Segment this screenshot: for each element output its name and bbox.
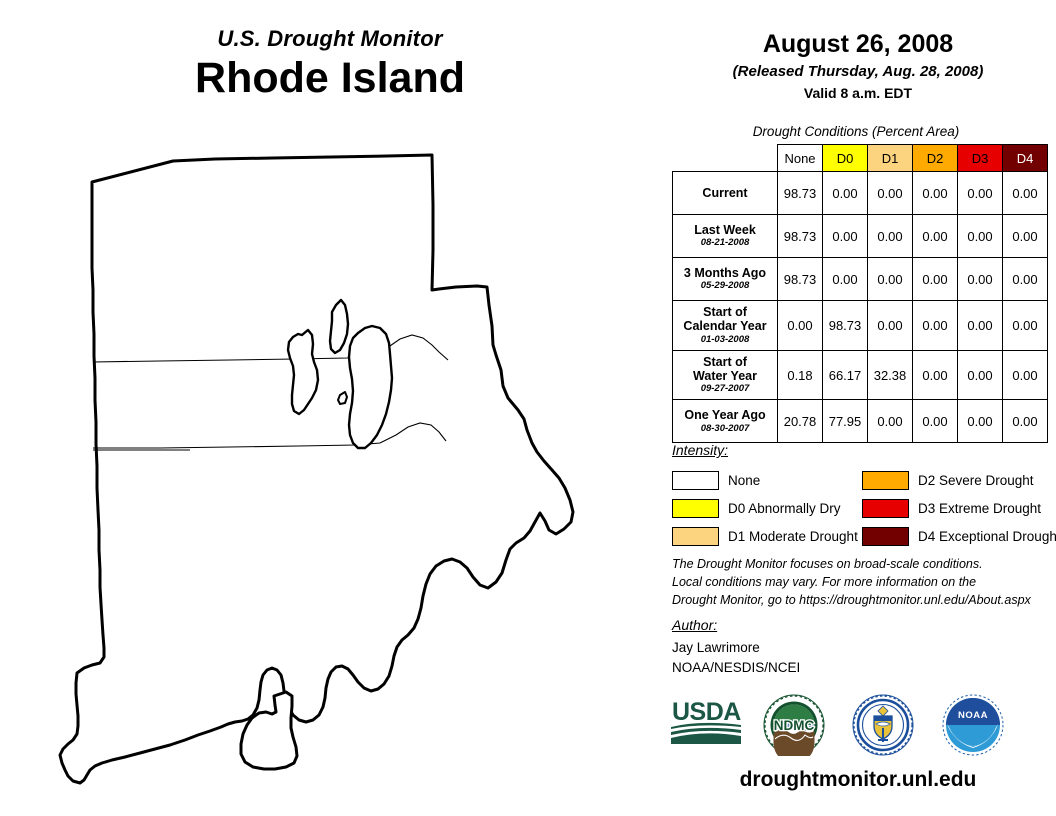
row-label-text: Last Week xyxy=(677,223,773,237)
legend-item: D0 Abnormally Dry xyxy=(672,496,858,520)
cell-none: 0.00 xyxy=(778,301,823,351)
date-block: August 26, 2008 (Released Thursday, Aug.… xyxy=(660,30,1056,101)
cell-none: 98.73 xyxy=(778,258,823,301)
table-row: 3 Months Ago05-29-200898.730.000.000.000… xyxy=(673,258,1048,301)
row-label-text: 3 Months Ago xyxy=(677,266,773,280)
row-label: One Year Ago08-30-2007 xyxy=(673,400,778,443)
logo-row: USDA NDMC NOAA xyxy=(660,694,1056,758)
column-header-d0: D0 xyxy=(823,145,868,172)
cell-d2: 0.00 xyxy=(913,350,958,400)
ndmc-logo: NDMC xyxy=(762,694,826,756)
usda-logo: USDA xyxy=(670,694,742,746)
cell-d1: 0.00 xyxy=(868,301,913,351)
cell-d0: 66.17 xyxy=(823,350,868,400)
cell-d4: 0.00 xyxy=(1003,301,1048,351)
cell-d1: 0.00 xyxy=(868,400,913,443)
svg-text:NOAA: NOAA xyxy=(958,710,988,721)
legend-label: D1 Moderate Drought xyxy=(728,529,858,544)
legend-label: None xyxy=(728,473,760,488)
website-url: droughtmonitor.unl.edu xyxy=(660,768,1056,792)
map-state-outline xyxy=(60,155,573,783)
svg-text:USDA: USDA xyxy=(672,698,741,726)
cell-d1: 32.38 xyxy=(868,350,913,400)
column-header-d4: D4 xyxy=(1003,145,1048,172)
cell-d3: 0.00 xyxy=(958,400,1003,443)
cell-d3: 0.00 xyxy=(958,350,1003,400)
legend-swatch xyxy=(672,527,719,546)
legend-swatch xyxy=(862,471,909,490)
cell-d4: 0.00 xyxy=(1003,258,1048,301)
legend-item: D1 Moderate Drought xyxy=(672,524,858,548)
table-caption: Drought Conditions (Percent Area) xyxy=(672,124,1040,139)
legend-swatch xyxy=(672,499,719,518)
legend-label: D4 Exceptional Drought xyxy=(918,529,1056,544)
table-row: Last Week08-21-200898.730.000.000.000.00… xyxy=(673,215,1048,258)
cell-d1: 0.00 xyxy=(868,172,913,215)
legend-swatch xyxy=(672,471,719,490)
noaa-logo: NOAA xyxy=(942,694,1004,756)
row-label-date: 01-03-2008 xyxy=(677,335,773,346)
column-header-d1: D1 xyxy=(868,145,913,172)
notes-line-3: Drought Monitor, go to https://droughtmo… xyxy=(672,592,1031,610)
row-label-text: Water Year xyxy=(677,369,773,383)
valid-date: August 26, 2008 xyxy=(660,30,1056,59)
row-label-date: 08-30-2007 xyxy=(677,424,773,435)
column-header-d3: D3 xyxy=(958,145,1003,172)
cell-none: 98.73 xyxy=(778,172,823,215)
author-affiliation: NOAA/NESDIS/NCEI xyxy=(672,658,800,678)
legend-swatch xyxy=(862,499,909,518)
legend-item: D3 Extreme Drought xyxy=(862,496,1056,520)
row-label-date: 09-27-2007 xyxy=(677,384,773,395)
table-row: Start ofCalendar Year01-03-20080.0098.73… xyxy=(673,301,1048,351)
table-row: Start ofWater Year09-27-20070.1866.1732.… xyxy=(673,350,1048,400)
row-label: Start ofCalendar Year01-03-2008 xyxy=(673,301,778,351)
intensity-legend-title: Intensity: xyxy=(672,442,728,458)
legend-item: D2 Severe Drought xyxy=(862,468,1056,492)
row-label: 3 Months Ago05-29-2008 xyxy=(673,258,778,301)
header-spacer xyxy=(673,145,778,172)
cell-d0: 77.95 xyxy=(823,400,868,443)
program-title: U.S. Drought Monitor xyxy=(0,26,660,52)
row-label-text: Start of xyxy=(677,355,773,369)
cell-d2: 0.00 xyxy=(913,215,958,258)
row-label-text: Current xyxy=(677,186,773,200)
cell-d2: 0.00 xyxy=(913,172,958,215)
table-row: Current98.730.000.000.000.000.00 xyxy=(673,172,1048,215)
column-header-none: None xyxy=(778,145,823,172)
release-date: (Released Thursday, Aug. 28, 2008) xyxy=(660,63,1056,80)
cell-d3: 0.00 xyxy=(958,258,1003,301)
cell-d0: 98.73 xyxy=(823,301,868,351)
row-label-date: 08-21-2008 xyxy=(677,238,773,249)
author-title: Author: xyxy=(672,617,717,633)
legend-label: D3 Extreme Drought xyxy=(918,501,1041,516)
cell-d4: 0.00 xyxy=(1003,215,1048,258)
row-label-date: 05-29-2008 xyxy=(677,281,773,292)
state-title: Rhode Island xyxy=(0,56,660,101)
column-header-d2: D2 xyxy=(913,145,958,172)
cell-d4: 0.00 xyxy=(1003,350,1048,400)
drought-conditions-table: None D0 D1 D2 D3 D4 Current98.730.000.00… xyxy=(672,144,1048,443)
cell-none: 98.73 xyxy=(778,215,823,258)
cell-d3: 0.00 xyxy=(958,172,1003,215)
rhode-island-map xyxy=(40,130,640,810)
row-label: Last Week08-21-2008 xyxy=(673,215,778,258)
notes-line-1: The Drought Monitor focuses on broad-sca… xyxy=(672,556,1031,574)
row-label-text: Calendar Year xyxy=(677,319,773,333)
legend-item: None xyxy=(672,468,858,492)
notes-line-2: Local conditions may vary. For more info… xyxy=(672,574,1031,592)
disclaimer-notes: The Drought Monitor focuses on broad-sca… xyxy=(672,556,1031,609)
table-row: One Year Ago08-30-200720.7877.950.000.00… xyxy=(673,400,1048,443)
author-name: Jay Lawrimore xyxy=(672,638,800,658)
cell-d3: 0.00 xyxy=(958,215,1003,258)
cell-d2: 0.00 xyxy=(913,301,958,351)
cell-d0: 0.00 xyxy=(823,258,868,301)
valid-time: Valid 8 a.m. EDT xyxy=(660,85,1056,101)
intensity-legend-left: NoneD0 Abnormally DryD1 Moderate Drought xyxy=(672,468,858,552)
svg-text:NDMC: NDMC xyxy=(774,718,815,733)
commerce-seal-logo xyxy=(852,694,914,756)
cell-d0: 0.00 xyxy=(823,172,868,215)
cell-d2: 0.00 xyxy=(913,258,958,301)
table-header-row: None D0 D1 D2 D3 D4 xyxy=(673,145,1048,172)
cell-d1: 0.00 xyxy=(868,258,913,301)
intensity-legend-right: D2 Severe DroughtD3 Extreme DroughtD4 Ex… xyxy=(862,468,1056,552)
cell-none: 20.78 xyxy=(778,400,823,443)
row-label-text: One Year Ago xyxy=(677,408,773,422)
legend-label: D0 Abnormally Dry xyxy=(728,501,841,516)
cell-d0: 0.00 xyxy=(823,215,868,258)
rhode-island-map-svg xyxy=(40,130,640,810)
cell-d2: 0.00 xyxy=(913,400,958,443)
cell-d1: 0.00 xyxy=(868,215,913,258)
row-label-text: Start of xyxy=(677,305,773,319)
row-label: Start ofWater Year09-27-2007 xyxy=(673,350,778,400)
cell-d3: 0.00 xyxy=(958,301,1003,351)
cell-none: 0.18 xyxy=(778,350,823,400)
author-block: Jay Lawrimore NOAA/NESDIS/NCEI xyxy=(672,638,800,677)
legend-label: D2 Severe Drought xyxy=(918,473,1034,488)
row-label: Current xyxy=(673,172,778,215)
legend-item: D4 Exceptional Drought xyxy=(862,524,1056,548)
cell-d4: 0.00 xyxy=(1003,172,1048,215)
cell-d4: 0.00 xyxy=(1003,400,1048,443)
title-block: U.S. Drought Monitor Rhode Island xyxy=(0,26,660,101)
legend-swatch xyxy=(862,527,909,546)
